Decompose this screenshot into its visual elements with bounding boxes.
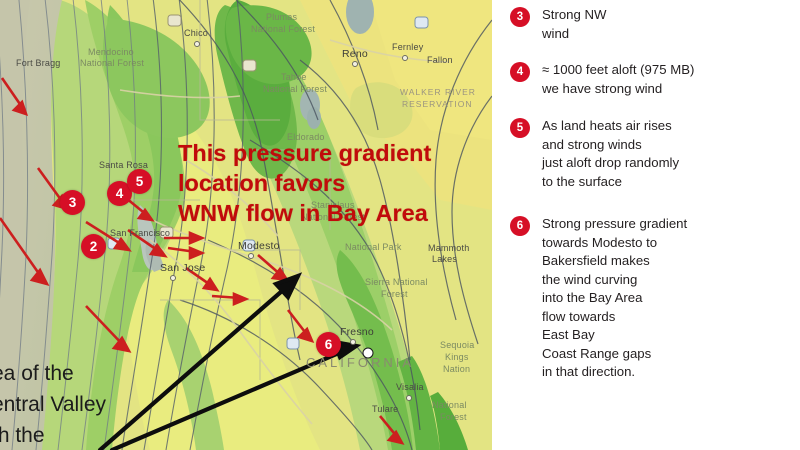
note-5: 5As land heats air rises and strong wind… — [510, 117, 679, 191]
note-3-text: Strong NW wind — [542, 6, 607, 43]
map-city-dot — [406, 395, 412, 401]
note-6-text: Strong pressure gradient towards Modesto… — [542, 215, 687, 382]
map-bottom-caption: ea of the entral Valley th the — [0, 358, 202, 450]
map-city-dot — [194, 41, 200, 47]
map-city-dot — [248, 253, 254, 259]
note-3-badge: 3 — [510, 7, 530, 27]
note-4-badge: 4 — [510, 62, 530, 82]
notes-panel: 3Strong NW wind4≈ 1000 feet aloft (975 M… — [492, 0, 800, 450]
map-marker-5[interactable]: 5 — [127, 169, 152, 194]
map-title-line-1: This pressure gradient — [178, 138, 478, 168]
map-city-dot — [170, 275, 176, 281]
map-panel[interactable]: Fort BraggChicoRenoFernleyFallonSanta Ro… — [0, 0, 492, 450]
note-3: 3Strong NW wind — [510, 6, 607, 43]
map-marker-2[interactable]: 2 — [81, 234, 106, 259]
note-4-text: ≈ 1000 feet aloft (975 MB) we have stron… — [542, 61, 694, 98]
note-6: 6Strong pressure gradient towards Modest… — [510, 215, 687, 382]
map-caption-line-2: entral Valley — [0, 389, 202, 420]
map-marker-6[interactable]: 6 — [316, 332, 341, 357]
note-5-text: As land heats air rises and strong winds… — [542, 117, 679, 191]
map-caption-line-3: th the — [0, 420, 202, 450]
note-5-badge: 5 — [510, 118, 530, 138]
note-6-badge: 6 — [510, 216, 530, 236]
note-4: 4≈ 1000 feet aloft (975 MB) we have stro… — [510, 61, 694, 98]
slide-root: Fort BraggChicoRenoFernleyFallonSanta Ro… — [0, 0, 800, 450]
map-title-line-2: location favors — [178, 168, 478, 198]
map-title-line-3: WNW flow in Bay Area — [178, 198, 478, 228]
map-caption-line-1: ea of the — [0, 358, 202, 389]
map-city-dot — [402, 55, 408, 61]
map-annotation-title: This pressure gradient location favors W… — [178, 138, 478, 228]
map-marker-3[interactable]: 3 — [60, 190, 85, 215]
map-city-dot — [350, 339, 356, 345]
map-city-dot — [352, 61, 358, 67]
